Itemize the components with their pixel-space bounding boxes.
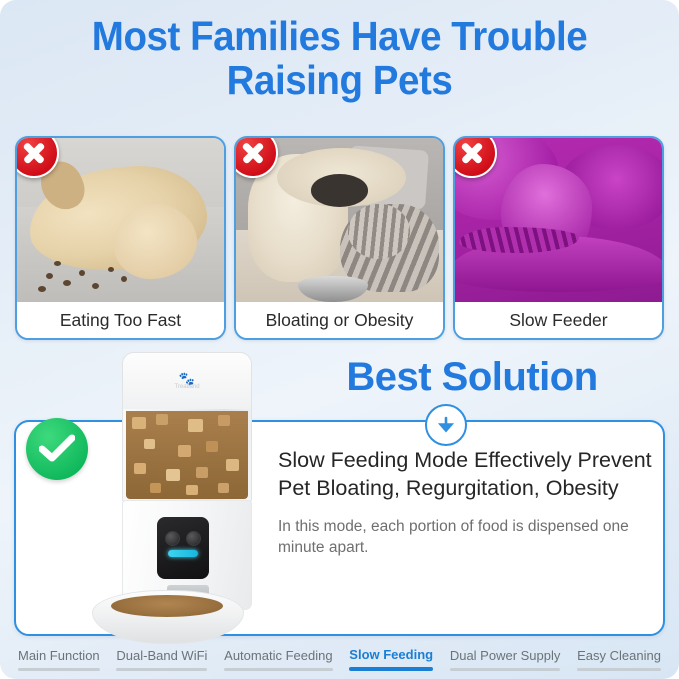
tab-dual-power-supply[interactable]: Dual Power Supply: [448, 648, 563, 671]
tab-underline: [18, 668, 100, 671]
tab-automatic-feeding[interactable]: Automatic Feeding: [222, 648, 334, 671]
tab-underline: [577, 668, 661, 671]
arrow-down-circle-icon: [425, 404, 467, 446]
tab-underline: [224, 668, 332, 671]
tab-underline: [349, 667, 433, 671]
tab-underline: [116, 668, 207, 671]
problem-card[interactable]: Eating Too Fast: [15, 136, 226, 340]
automatic-pet-feeder-image: 🐾 Treatland: [96, 352, 278, 632]
headline-line-2: Raising Pets: [20, 58, 658, 102]
problem-card[interactable]: Bloating or Obesity: [234, 136, 445, 340]
check-circle-icon: [26, 418, 88, 480]
tab-easy-cleaning[interactable]: Easy Cleaning: [575, 648, 663, 671]
problem-card[interactable]: Slow Feeder: [453, 136, 664, 340]
solution-text-block: Slow Feeding Mode Effectively Prevent Pe…: [278, 447, 658, 558]
tab-underline: [450, 668, 561, 671]
tab-dual-band-wifi[interactable]: Dual-Band WiFi: [114, 648, 209, 671]
tab-slow-feeding[interactable]: Slow Feeding: [347, 647, 435, 671]
brand-text: Treatland: [172, 384, 202, 390]
tab-label: Dual-Band WiFi: [116, 648, 207, 663]
feature-tab-bar: Main Function Dual-Band WiFi Automatic F…: [0, 647, 679, 671]
page-title: Most Families Have Trouble Raising Pets: [20, 14, 658, 103]
tab-label: Slow Feeding: [349, 647, 433, 662]
solution-subtitle: In this mode, each portion of food is di…: [278, 517, 658, 559]
tab-label: Main Function: [18, 648, 100, 663]
tab-label: Automatic Feeding: [224, 648, 332, 663]
tab-label: Easy Cleaning: [577, 648, 661, 663]
problem-card-list: Eating Too Fast Bloating or Obesity Slow…: [15, 136, 664, 336]
problem-card-caption: Slow Feeder: [455, 302, 662, 338]
led-indicator: [168, 550, 198, 557]
solution-title: Slow Feeding Mode Effectively Prevent Pe…: [278, 447, 658, 503]
problem-card-caption: Bloating or Obesity: [236, 302, 443, 338]
headline-line-1: Most Families Have Trouble: [20, 14, 658, 58]
feeder-button-left[interactable]: [165, 531, 180, 546]
tab-main-function[interactable]: Main Function: [16, 648, 102, 671]
tab-label: Dual Power Supply: [450, 648, 561, 663]
infographic-canvas: Most Families Have Trouble Raising Pets …: [0, 0, 679, 679]
problem-card-caption: Eating Too Fast: [17, 302, 224, 338]
kibble-fill: [126, 411, 248, 499]
solution-heading: Best Solution: [282, 355, 662, 400]
paw-logo-icon: 🐾 Treatland: [172, 373, 202, 390]
control-panel[interactable]: [157, 517, 209, 579]
feeder-button-right[interactable]: [186, 531, 201, 546]
